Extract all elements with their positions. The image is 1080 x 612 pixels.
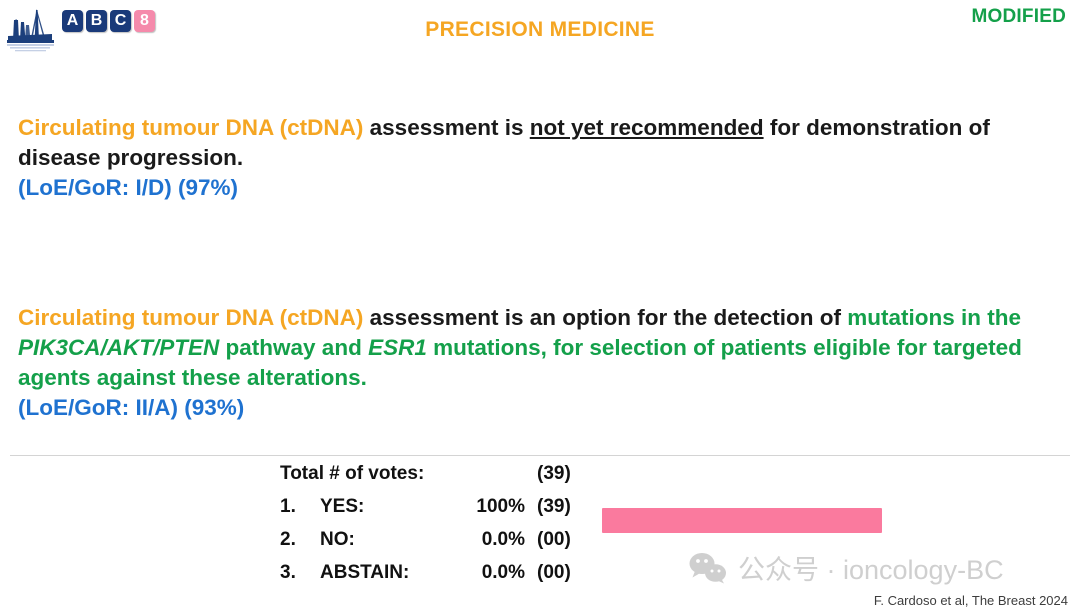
statement-1-seg-1: assessment is — [363, 115, 529, 140]
statement-2-gene-pik3ca-akt-pten: PIK3CA/AKT/PTEN — [18, 335, 219, 360]
slide-header: A B C 8 PRECISION MEDICINE MODIFIED — [0, 0, 1080, 62]
table-row: 2. NO: 0.0% (00) — [280, 529, 600, 562]
statement-2-seg-4: pathway and — [219, 335, 368, 360]
vote-row-2-label: NO: — [320, 529, 355, 551]
statement-1-grade: (LoE/GoR: I/D) (97%) — [18, 173, 1064, 203]
vote-row-2-percent: 0.0% — [435, 529, 525, 551]
statement-2-seg-2: mutations in the — [847, 305, 1021, 330]
vote-row-1-index: 1. — [280, 496, 306, 518]
statement-2-text: Circulating tumour DNA (ctDNA) assessmen… — [18, 305, 1022, 390]
section-divider — [10, 455, 1070, 456]
vote-row-1-percent: 100% — [435, 496, 525, 518]
statement-2-seg-1: assessment is an option for the detectio… — [363, 305, 847, 330]
recommendation-statement-1: Circulating tumour DNA (ctDNA) assessmen… — [18, 113, 1064, 203]
recommendation-statement-2: Circulating tumour DNA (ctDNA) assessmen… — [18, 303, 1064, 423]
statement-2-gene-esr1: ESR1 — [368, 335, 427, 360]
wechat-icon — [688, 552, 728, 584]
status-badge-modified: MODIFIED — [972, 6, 1067, 28]
watermark-text: 公众号 · ioncology-BC — [738, 548, 1004, 587]
vote-total-row: Total # of votes: (39) — [280, 463, 600, 496]
page-title: PRECISION MEDICINE — [0, 18, 1080, 42]
statement-1-seg-0: Circulating tumour DNA (ctDNA) — [18, 115, 363, 140]
vote-row-3-count: (00) — [537, 562, 597, 584]
vote-bar-yes — [602, 508, 882, 533]
vote-bar-yes-fill — [602, 508, 882, 533]
statement-2-seg-0: Circulating tumour DNA (ctDNA) — [18, 305, 363, 330]
vote-row-1-count: (39) — [537, 496, 597, 518]
vote-results-table: Total # of votes: (39) 1. YES: 100% (39)… — [280, 463, 600, 595]
vote-total-label: Total # of votes: — [280, 463, 424, 485]
statement-1-seg-2: not yet recommended — [530, 115, 764, 140]
table-row: 3. ABSTAIN: 0.0% (00) — [280, 562, 600, 595]
statement-2-grade: (LoE/GoR: II/A) (93%) — [18, 393, 1064, 423]
vote-row-2-index: 2. — [280, 529, 306, 551]
vote-total-count: (39) — [537, 463, 597, 485]
wechat-watermark: 公众号 · ioncology-BC — [688, 548, 1004, 587]
vote-row-3-index: 3. — [280, 562, 306, 584]
vote-row-3-label: ABSTAIN: — [320, 562, 409, 584]
vote-row-1-label: YES: — [320, 496, 364, 518]
table-row: 1. YES: 100% (39) — [280, 496, 600, 529]
vote-row-3-percent: 0.0% — [435, 562, 525, 584]
vote-row-2-count: (00) — [537, 529, 597, 551]
statement-1-text: Circulating tumour DNA (ctDNA) assessmen… — [18, 115, 990, 170]
source-citation: F. Cardoso et al, The Breast 2024 — [874, 593, 1068, 608]
